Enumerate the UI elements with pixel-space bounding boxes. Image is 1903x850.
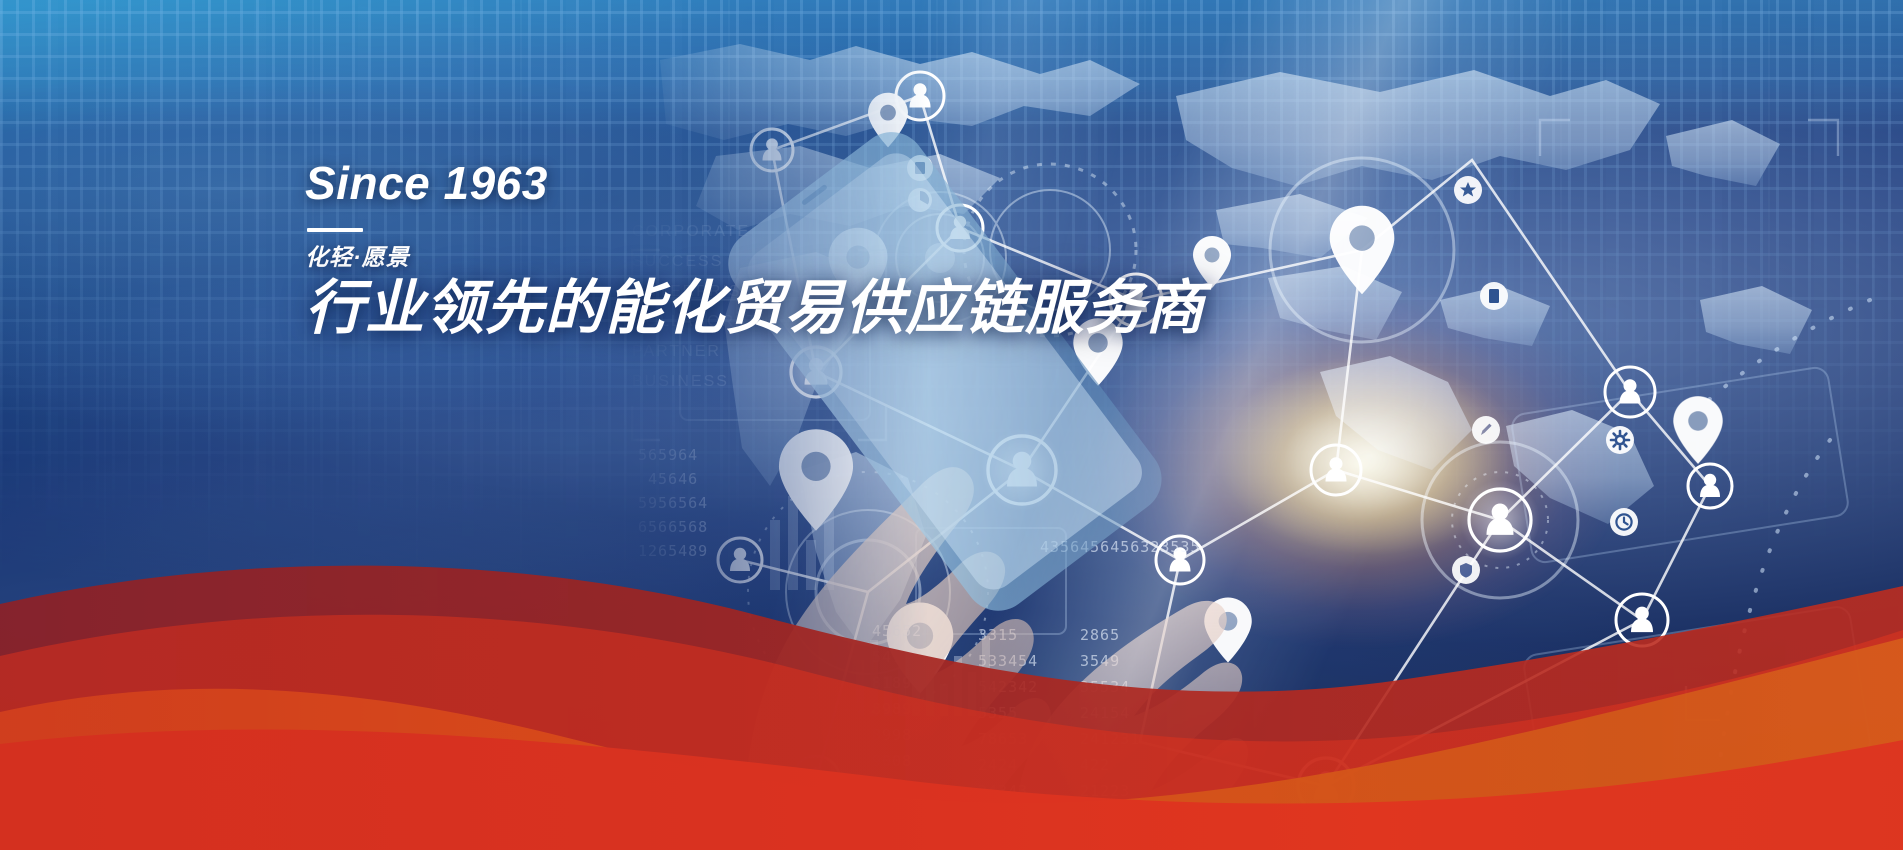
hero-banner: 565964 45646 5956564 6566568 1265489 331…	[0, 0, 1903, 850]
bottom-wave-graphic	[0, 530, 1903, 850]
hero-copy-block: Since 1963 化轻·愿景 行业领先的能化贸易供应链服务商	[305, 160, 1235, 341]
svg-text:5956564: 5956564	[638, 494, 708, 512]
established-label: Since 1963	[305, 160, 1235, 206]
page-title: 行业领先的能化贸易供应链服务商	[305, 277, 1235, 341]
document-icon	[1480, 282, 1508, 310]
star-icon	[1454, 176, 1482, 204]
svg-text:PARTNER: PARTNER	[632, 343, 721, 360]
gear-icon	[1606, 426, 1634, 454]
svg-text:565964: 565964	[638, 446, 698, 464]
title-divider	[307, 228, 363, 232]
vision-label: 化轻·愿景	[305, 246, 1235, 269]
svg-text:45646: 45646	[648, 470, 698, 488]
svg-text:BUSINESS: BUSINESS	[632, 373, 729, 390]
pencil-icon	[1472, 416, 1500, 444]
background-top-band	[0, 0, 1903, 130]
